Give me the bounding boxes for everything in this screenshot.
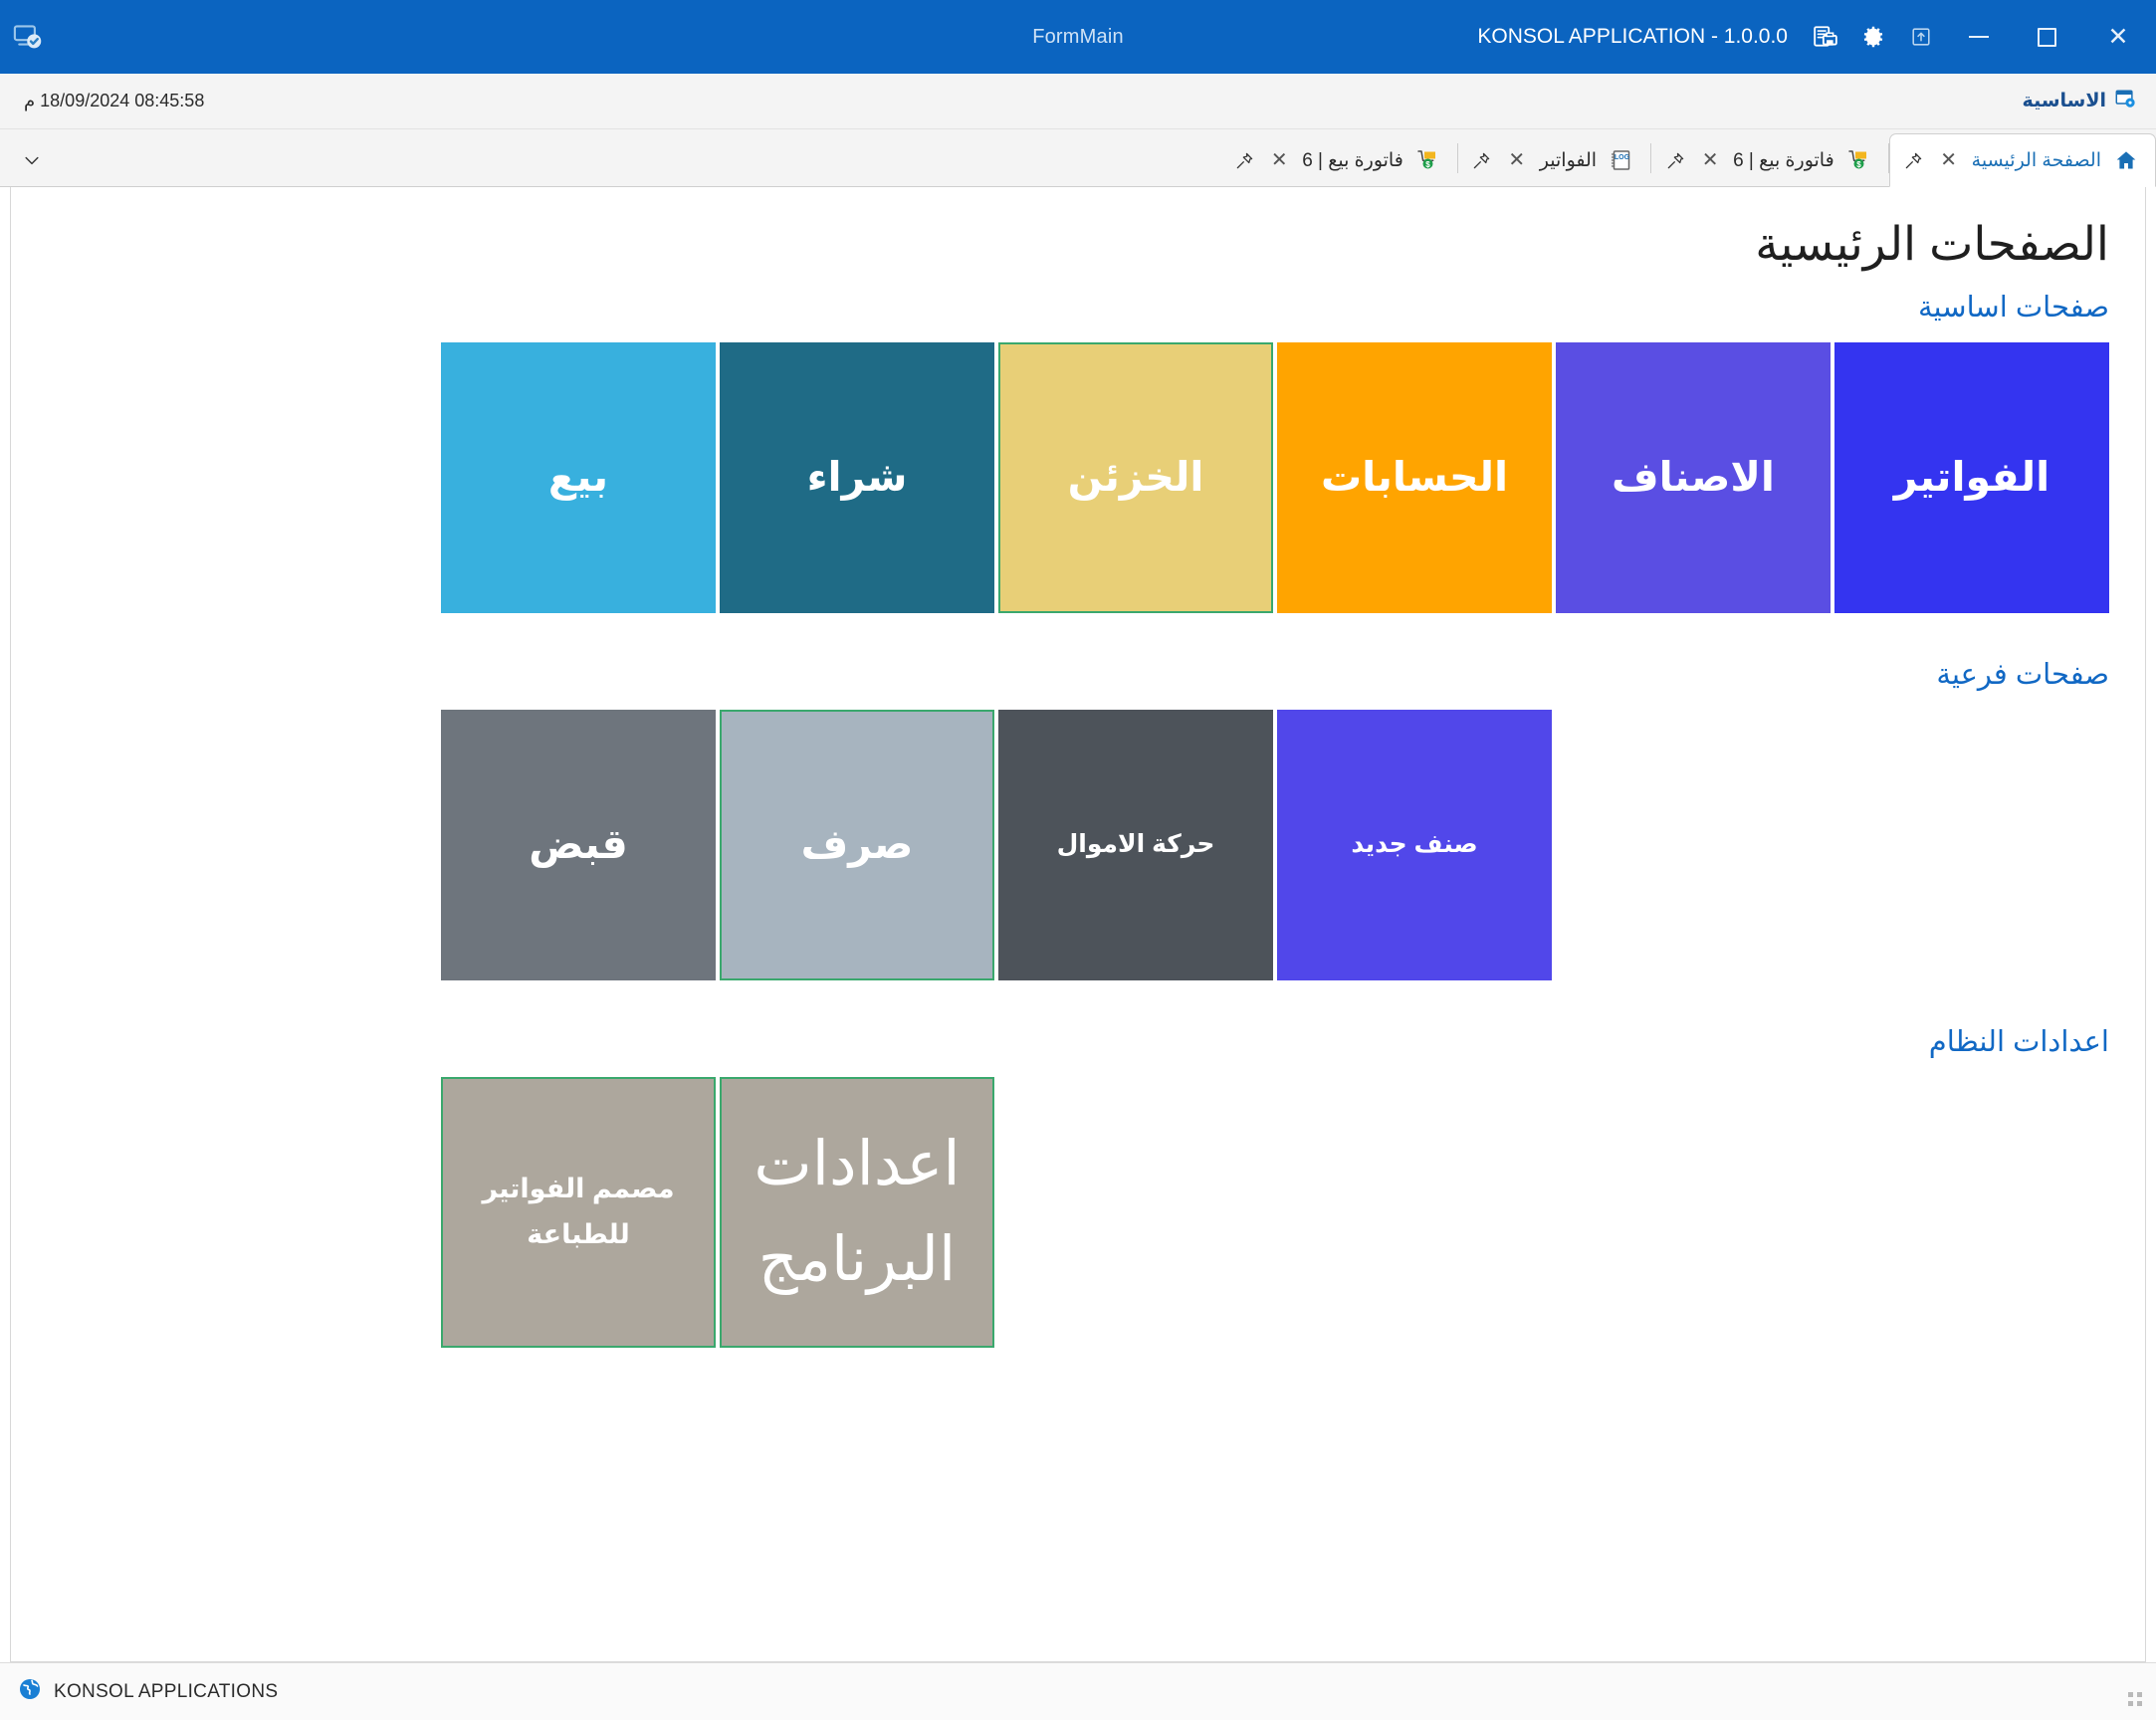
tab-sale-invoice-2[interactable]: $ فاتورة بيع | 6 ✕ (1220, 134, 1457, 186)
close-icon: ✕ (2108, 25, 2129, 50)
svg-text:LOG: LOG (1615, 154, 1630, 161)
tile-invoices[interactable]: الفواتير (1834, 342, 2109, 613)
tile-label: صنف جديد (1283, 829, 1546, 860)
tile-payment-out[interactable]: صرف (720, 710, 994, 980)
tile-purchase[interactable]: شراء (720, 342, 994, 613)
resize-grip[interactable] (2128, 1692, 2142, 1706)
tab-sale-invoice-1[interactable]: $ فاتورة بيع | 6 ✕ (1651, 134, 1888, 186)
tile-row-system-settings: اعدادات البرنامج مصمم الفواتير للطباعة (47, 1077, 2109, 1348)
tile-treasuries[interactable]: الخزئن (998, 342, 1273, 613)
globe-icon (18, 1677, 42, 1706)
log-book-icon: LOG (1609, 147, 1634, 173)
ribbon-tab-main[interactable]: الاساسية (2023, 88, 2136, 114)
tab-close-icon[interactable]: ✕ (1268, 150, 1290, 170)
tab-title: الصفحة الرئيسية (1972, 149, 2101, 172)
ribbon-tab-main-label: الاساسية (2023, 90, 2106, 112)
tile-label: الفواتير (1840, 452, 2103, 503)
tab-close-icon[interactable]: ✕ (1699, 150, 1721, 170)
header-strip: الاساسية 08:45:58 18/09/2024 م (0, 74, 2156, 129)
tile-label: حركة الاموال (1004, 829, 1267, 860)
tile-items[interactable]: الاصناف (1556, 342, 1831, 613)
tile-row-basic-pages: الفواتير الاصناف الحسابات الخزئن شراء بي… (47, 342, 2109, 613)
tab-close-icon[interactable]: ✕ (1506, 150, 1528, 170)
pin-icon[interactable] (1232, 151, 1256, 170)
tile-label: مصمم الفواتير للطباعة (449, 1167, 708, 1258)
gear-icon[interactable] (1849, 10, 1897, 64)
status-bar: KONSOL APPLICATIONS (0, 1662, 2156, 1720)
grip-dot (2137, 1701, 2142, 1706)
pin-icon[interactable] (1470, 151, 1494, 170)
pin-icon[interactable] (1902, 151, 1926, 170)
tile-row-sub-pages: صنف جديد حركة الاموال صرف قبض (47, 710, 2109, 980)
sale-invoice-icon: $ (1846, 147, 1872, 173)
tile-invoice-print-designer[interactable]: مصمم الفواتير للطباعة (441, 1077, 716, 1348)
svg-text:$: $ (1856, 160, 1861, 169)
tile-label: صرف (728, 819, 986, 870)
minimize-icon (1969, 36, 1989, 38)
restore-panel-icon[interactable] (1897, 10, 1945, 64)
tile-new-item[interactable]: صنف جديد (1277, 710, 1552, 980)
tile-sale[interactable]: بيع (441, 342, 716, 613)
main-page: الصفحات الرئيسية صفحات اساسية الفواتير ا… (10, 187, 2146, 1662)
tile-program-settings[interactable]: اعدادات البرنامج (720, 1077, 994, 1348)
window-settings-icon (2114, 88, 2136, 114)
grip-dot (2128, 1692, 2133, 1697)
tile-label: قبض (447, 819, 710, 870)
tab-bar: الصفحة الرئيسية ✕ $ فاتورة بيع | 6 ✕ (0, 129, 2156, 187)
tile-label: الحسابات (1283, 452, 1546, 503)
tile-label: بيع (447, 452, 710, 503)
tab-close-icon[interactable]: ✕ (1938, 150, 1960, 170)
tile-label: الاصناف (1562, 452, 1825, 503)
chevron-down-icon (22, 150, 42, 170)
tile-label: الخزئن (1006, 452, 1265, 503)
app-title-label: KONSOL APPLICATION - 1.0.0.0 (1477, 25, 1802, 49)
tile-label: اعدادات البرنامج (728, 1117, 986, 1308)
svg-text:$: $ (1425, 160, 1430, 169)
page-title: الصفحات الرئيسية (47, 215, 2109, 274)
tile-payment-in[interactable]: قبض (441, 710, 716, 980)
status-bar-brand: KONSOL APPLICATIONS (18, 1677, 278, 1706)
sale-invoice-icon: $ (1415, 147, 1441, 173)
tile-accounts[interactable]: الحسابات (1277, 342, 1552, 613)
tab-list-dropdown-button[interactable] (6, 134, 58, 186)
tab-title: فاتورة بيع | 6 (1733, 149, 1834, 172)
section-title-system-settings: اعدادات النظام (47, 1024, 2109, 1059)
title-bar: FormMain KONSOL APPLICATION - 1.0.0.0 (0, 0, 2156, 74)
tile-label: شراء (726, 452, 988, 503)
tab-title: فاتورة بيع | 6 (1302, 149, 1403, 172)
maximize-button[interactable] (2013, 0, 2080, 74)
tile-money-movement[interactable]: حركة الاموال (998, 710, 1273, 980)
home-icon (2113, 147, 2139, 173)
tab-invoices[interactable]: LOG الفواتير ✕ (1458, 134, 1650, 186)
datetime-label: 08:45:58 18/09/2024 م (18, 91, 204, 111)
maximize-icon (2038, 28, 2056, 47)
pin-icon[interactable] (1663, 151, 1687, 170)
tab-title: الفواتير (1540, 149, 1597, 172)
minimize-button[interactable] (1945, 0, 2013, 74)
section-title-basic-pages: صفحات اساسية (47, 290, 2109, 324)
status-bar-text: KONSOL APPLICATIONS (54, 1681, 278, 1703)
close-button[interactable]: ✕ (2080, 0, 2156, 74)
grip-dot (2128, 1701, 2133, 1706)
save-print-icon[interactable] (1802, 10, 1849, 64)
grip-dot (2137, 1692, 2142, 1697)
title-bar-right-group: KONSOL APPLICATION - 1.0.0.0 (1477, 0, 2156, 74)
app-icon[interactable] (0, 22, 56, 52)
tab-home[interactable]: الصفحة الرئيسية ✕ (1889, 133, 2156, 187)
section-title-sub-pages: صفحات فرعية (47, 657, 2109, 692)
